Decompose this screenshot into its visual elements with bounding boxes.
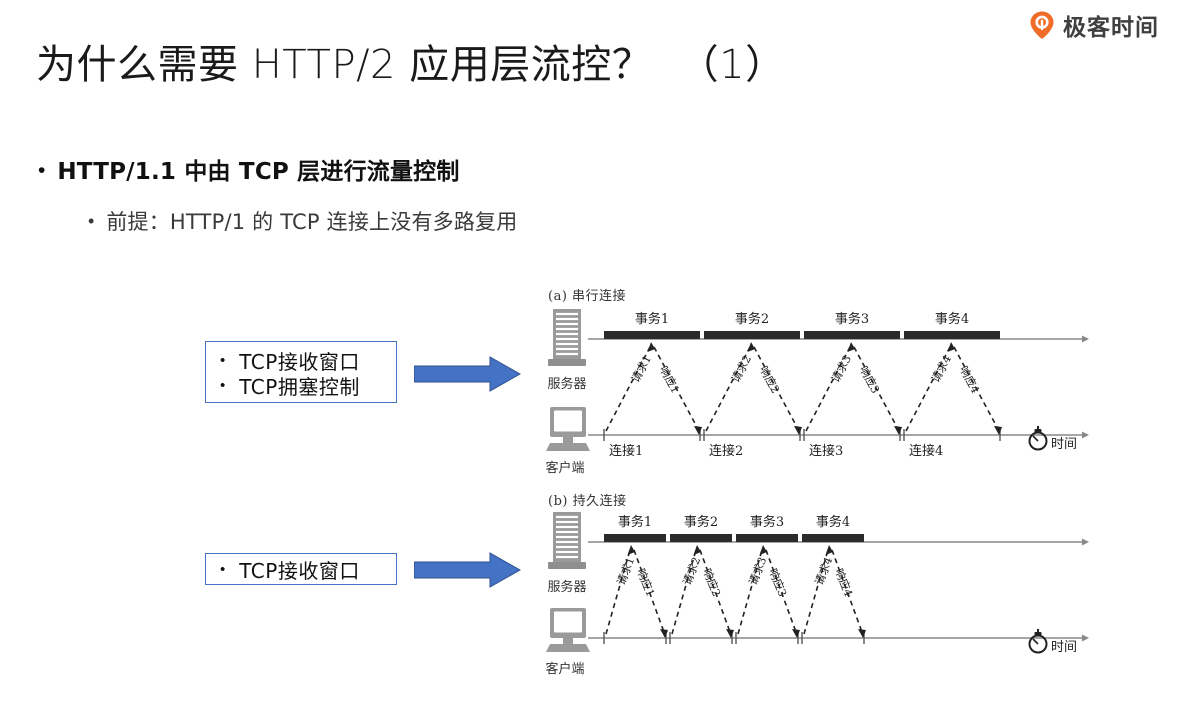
bullet-marker-icon: • xyxy=(220,353,225,368)
page-title: 为什么需要 HTTP/2 应用层流控？ （1） xyxy=(36,32,786,90)
connection-label: 连接3 xyxy=(809,440,843,459)
transaction-label: 事务4 xyxy=(916,308,988,327)
callout-box-tcp-window: • TCP接收窗口 xyxy=(205,553,397,585)
arrow-to-serial-diagram xyxy=(414,355,522,398)
transaction-label: 事务2 xyxy=(716,308,788,327)
transaction-label: 事务3 xyxy=(816,308,888,327)
time-axis-label: 时间 xyxy=(1051,433,1077,452)
stopwatch-icon xyxy=(1030,629,1047,653)
callout-item: • TCP接收窗口 xyxy=(206,348,396,373)
bullet-level1-text: HTTP/1.1 中由 TCP 层进行流量控制 xyxy=(57,158,459,186)
transaction-label: 事务2 xyxy=(666,511,736,530)
brand-logo: 极客时间 xyxy=(1027,8,1159,42)
transaction-label: 事务4 xyxy=(798,511,868,530)
callout-item-label: TCP接收窗口 xyxy=(239,555,360,584)
transaction-label: 事务3 xyxy=(732,511,802,530)
callout-item: • TCP接收窗口 xyxy=(206,554,396,584)
bullet-marker-icon: • xyxy=(220,562,225,577)
arrow-to-persistent-diagram xyxy=(414,551,522,594)
transaction-label: 事务1 xyxy=(600,511,670,530)
connection-label: 连接4 xyxy=(909,440,943,459)
bullet-level1: • HTTP/1.1 中由 TCP 层进行流量控制 xyxy=(38,158,460,186)
geekbang-pin-icon xyxy=(1027,10,1057,40)
diagram-persistent-connection: (b) 持久连接 服务器 xyxy=(530,490,1090,685)
slide-canvas: 极客时间 为什么需要 HTTP/2 应用层流控？ （1） • HTTP/1.1 … xyxy=(0,0,1203,702)
logo-wordmark: 极客时间 xyxy=(1063,8,1159,42)
bullet-level2: • 前提：HTTP/1 的 TCP 连接上没有多路复用 xyxy=(88,209,517,235)
bullet-marker-icon: • xyxy=(220,378,225,393)
stopwatch-icon xyxy=(1030,426,1047,450)
bullet-level2-text: 前提：HTTP/1 的 TCP 连接上没有多路复用 xyxy=(106,209,517,235)
bullet-marker-icon: • xyxy=(38,158,45,184)
transaction-label: 事务1 xyxy=(616,308,688,327)
bullet-marker-icon: • xyxy=(88,209,94,234)
callout-box-tcp-controls: • TCP接收窗口 • TCP拥塞控制 xyxy=(205,341,397,403)
diagram-serial-connection: (a) 串行连接 服务器 xyxy=(530,285,1090,485)
callout-item: • TCP拥塞控制 xyxy=(206,373,396,398)
connection-label: 连接1 xyxy=(609,440,643,459)
time-axis-label: 时间 xyxy=(1051,636,1077,655)
callout-item-label: TCP拥塞控制 xyxy=(239,371,360,400)
connection-label: 连接2 xyxy=(709,440,743,459)
